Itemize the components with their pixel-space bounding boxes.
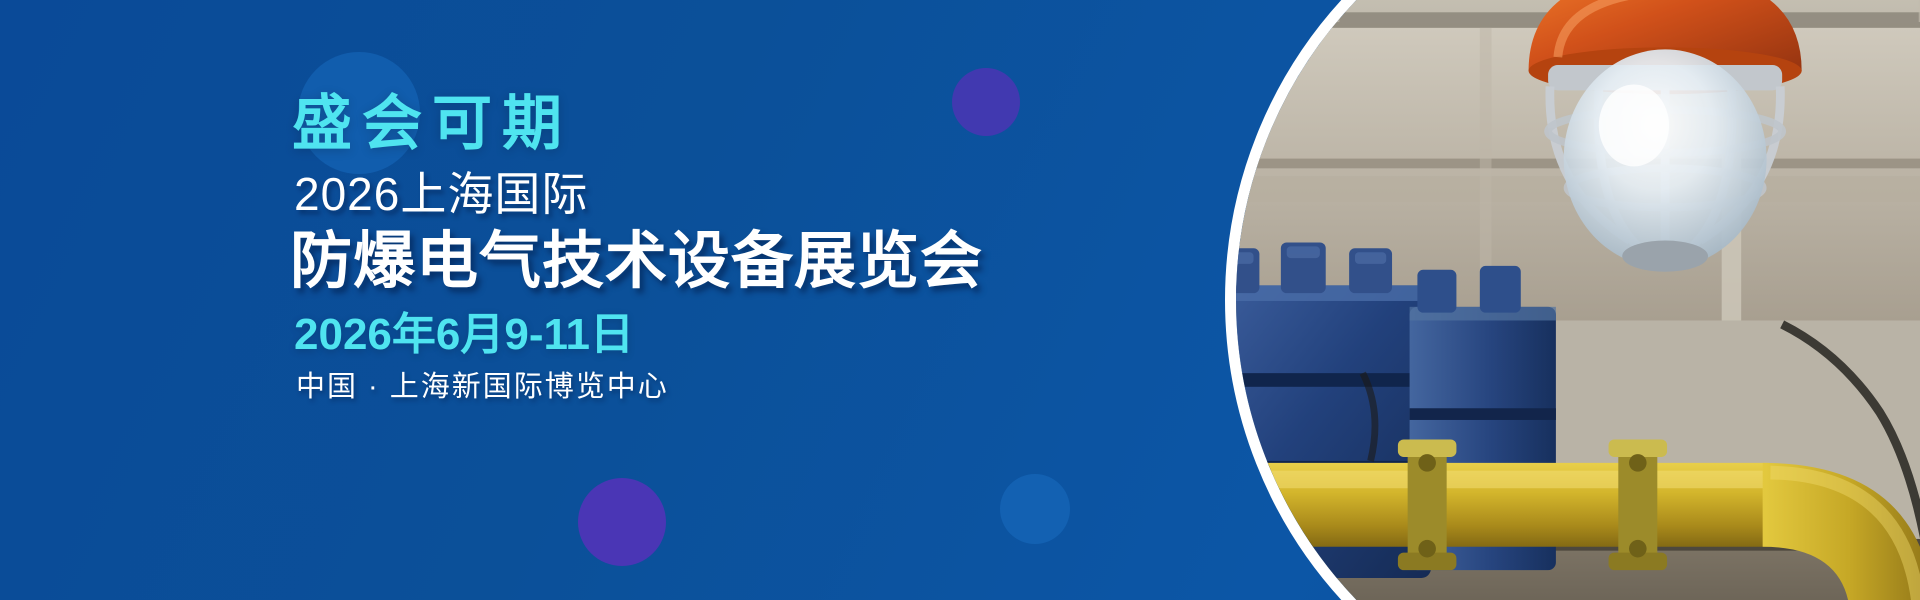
banner-venue: 中国 · 上海新国际博览中心 [296,370,1010,405]
banner-text-block: 盛会可期 2026上海国际 防爆电气技术设备展览会 2026年6月9-11日 中… [290,92,1010,405]
banner-subtitle: 2026上海国际 [294,169,1010,221]
banner-title: 防爆电气技术设备展览会 [290,225,1010,299]
exhibition-banner: Expec 盛会可期 2026上海国际 防爆电气技术设备展览会 2026年6月9… [0,0,1920,600]
banner-kicker: 盛会可期 [292,92,1010,155]
photo-circle-frame [1225,0,1920,600]
industrial-equipment-photo [1236,0,1920,600]
banner-date: 2026年6月9-11日 [294,309,1010,362]
decorative-blue-circle-bottom [1000,474,1070,544]
decorative-purple-circle-bottom [578,478,666,566]
